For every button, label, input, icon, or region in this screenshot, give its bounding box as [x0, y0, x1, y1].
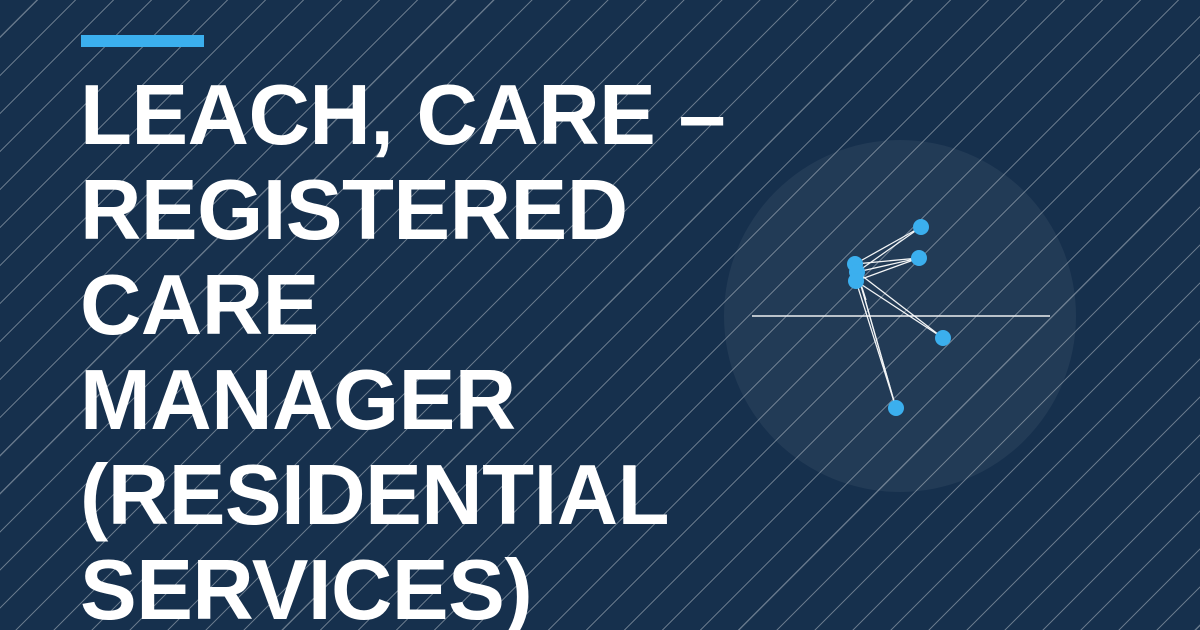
network-edges: [853, 227, 943, 408]
network-node-graphic: [700, 120, 1100, 520]
network-node: [888, 400, 904, 416]
network-node: [911, 250, 927, 266]
network-nodes: [847, 219, 951, 416]
network-node: [913, 219, 929, 235]
accent-bar: [81, 35, 204, 47]
network-node: [848, 273, 864, 289]
social-share-card: LEACH, CARE – REGISTERED CARE MANAGER (R…: [0, 0, 1200, 630]
network-node: [935, 330, 951, 346]
page-title: LEACH, CARE – REGISTERED CARE MANAGER (R…: [80, 68, 740, 630]
